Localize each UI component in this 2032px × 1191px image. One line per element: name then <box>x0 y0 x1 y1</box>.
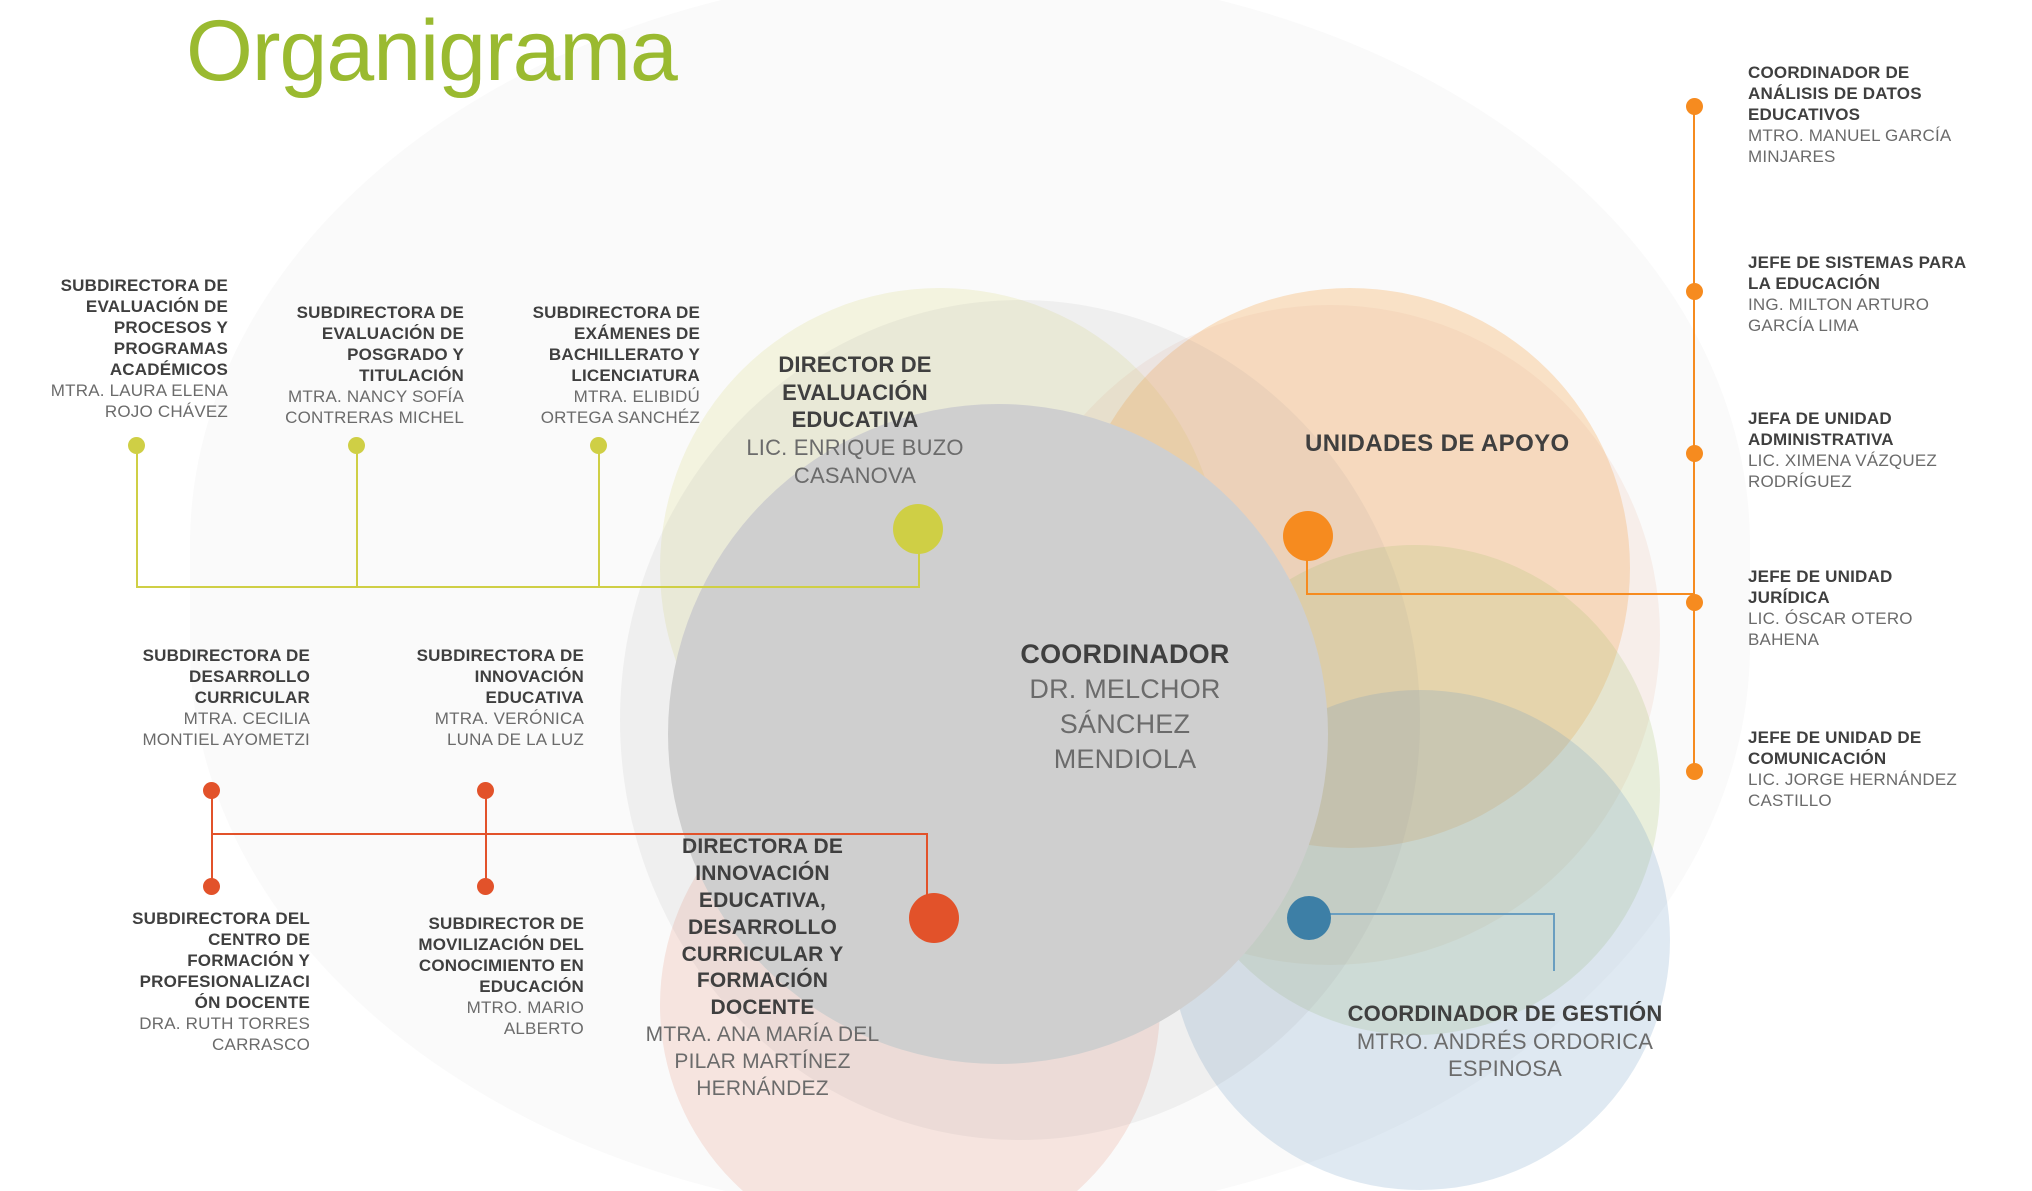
node-unidad-apoyo-1: COORDINADOR DE ANÁLISIS DE DATOS EDUCATI… <box>1748 62 2018 167</box>
node-unidad-apoyo-4: JEFE DE UNIDAD JURÍDICA LIC. ÓSCAR OTERO… <box>1748 566 2018 650</box>
sub-eval-3-name-2: ORTEGA SANCHÉZ <box>468 407 700 428</box>
center-name-3: MENDIOLA <box>935 742 1315 777</box>
orange-dot-5 <box>1686 763 1703 780</box>
directora-innovacion-name-2: PILAR MARTÍNEZ <box>610 1049 915 1076</box>
sub-eval-1-role-4: PROGRAMAS <box>0 338 228 359</box>
sub-innov-top-2-name-1: MTRA. VERÓNICA <box>352 708 584 729</box>
center-name-1: DR. MELCHOR <box>935 672 1315 707</box>
center-name-2: SÁNCHEZ <box>935 707 1315 742</box>
apoyo-3-role-1: JEFA DE UNIDAD <box>1748 408 2018 429</box>
node-director-evaluacion: DIRECTOR DE EVALUACIÓN EDUCATIVA LIC. EN… <box>700 351 1010 490</box>
orange-dot-1 <box>1686 98 1703 115</box>
directora-innovacion-role-1: DIRECTORA DE <box>610 834 915 861</box>
center-node-coordinador: COORDINADOR DR. MELCHOR SÁNCHEZ MENDIOLA <box>935 637 1315 777</box>
sub-eval-3-name-1: MTRA. ELIBIDÚ <box>468 386 700 407</box>
sub-eval-3-role-4: LICENCIATURA <box>468 365 700 386</box>
apoyo-1-name-1: MTRO. MANUEL GARCÍA <box>1748 125 2018 146</box>
apoyo-2-role-2: LA EDUCACIÓN <box>1748 273 2018 294</box>
sub-innov-top-1-role-3: CURRICULAR <box>78 687 310 708</box>
node-subdireccion-evaluacion-1: SUBDIRECTORA DE EVALUACIÓN DE PROCESOS Y… <box>0 275 228 423</box>
red-hub-dot <box>909 893 959 943</box>
apoyo-1-role-1: COORDINADOR DE <box>1748 62 2018 83</box>
sub-innov-bot-1-role-3: FORMACIÓN Y <box>78 950 310 971</box>
coordinador-gestion-name-1: MTRO. ANDRÉS ORDORICA <box>1275 1028 1735 1056</box>
olive-hub-dot <box>893 504 943 554</box>
sub-innov-top-1-role-1: SUBDIRECTORA DE <box>78 645 310 666</box>
red-dot-bottom-2 <box>477 878 494 895</box>
sub-eval-3-role-2: EXÁMENES DE <box>468 323 700 344</box>
node-unidad-apoyo-5: JEFE DE UNIDAD DE COMUNICACIÓN LIC. JORG… <box>1748 727 2018 811</box>
director-evaluacion-name-1: LIC. ENRIQUE BUZO <box>700 434 1010 462</box>
orange-hub-dot <box>1283 511 1333 561</box>
node-subdireccion-innovacion-top-2: SUBDIRECTORA DE INNOVACIÓN EDUCATIVA MTR… <box>352 645 584 750</box>
sub-innov-top-1-role-2: DESARROLLO <box>78 666 310 687</box>
apoyo-5-role-1: JEFE DE UNIDAD DE <box>1748 727 2018 748</box>
node-subdireccion-innovacion-top-1: SUBDIRECTORA DE DESARROLLO CURRICULAR MT… <box>78 645 310 750</box>
page-title: Organigrama <box>186 6 677 96</box>
sub-eval-3-role-3: BACHILLERATO Y <box>468 344 700 365</box>
sub-innov-top-2-role-3: EDUCATIVA <box>352 687 584 708</box>
apoyo-3-name-1: LIC. XIMENA VÁZQUEZ <box>1748 450 2018 471</box>
sub-innov-bot-2-name-1: MTRO. MARIO <box>352 997 584 1018</box>
coordinador-gestion-role: COORDINADOR DE GESTIÓN <box>1275 1000 1735 1028</box>
sub-eval-1-role-2: EVALUACIÓN DE <box>0 296 228 317</box>
red-dot-bottom-1 <box>203 878 220 895</box>
apoyo-4-name-1: LIC. ÓSCAR OTERO <box>1748 608 2018 629</box>
orange-dot-2 <box>1686 283 1703 300</box>
node-subdireccion-innovacion-bottom-2: SUBDIRECTOR DE MOVILIZACIÓN DEL CONOCIMI… <box>352 913 584 1039</box>
sub-eval-1-name-2: ROJO CHÁVEZ <box>0 401 228 422</box>
directora-innovacion-name-3: HERNÁNDEZ <box>610 1076 915 1103</box>
apoyo-3-role-2: ADMINISTRATIVA <box>1748 429 2018 450</box>
sub-innov-bot-1-role-4: PROFESIONALIZACI <box>78 971 310 992</box>
apoyo-4-role-1: JEFE DE UNIDAD <box>1748 566 2018 587</box>
olive-dot-2 <box>348 437 365 454</box>
section-label-unidades-apoyo: UNIDADES DE APOYO <box>1305 430 1570 458</box>
sub-innov-bot-2-role-2: MOVILIZACIÓN DEL <box>352 934 584 955</box>
apoyo-1-role-3: EDUCATIVOS <box>1748 104 2018 125</box>
sub-innov-bot-1-name-2: CARRASCO <box>78 1034 310 1055</box>
sub-eval-2-role-3: POSGRADO Y <box>232 344 464 365</box>
apoyo-2-role-1: JEFE DE SISTEMAS PARA <box>1748 252 2018 273</box>
directora-innovacion-name-1: MTRA. ANA MARÍA DEL <box>610 1022 915 1049</box>
sub-eval-3-role-1: SUBDIRECTORA DE <box>468 302 700 323</box>
apoyo-1-role-2: ANÁLISIS DE DATOS <box>1748 83 2018 104</box>
director-evaluacion-role-3: EDUCATIVA <box>700 406 1010 434</box>
orange-connector-bus <box>1306 593 1694 595</box>
sub-innov-bot-1-role-5: ÓN DOCENTE <box>78 992 310 1013</box>
sub-innov-bot-1-role-2: CENTRO DE <box>78 929 310 950</box>
apoyo-1-name-2: MINJARES <box>1748 146 2018 167</box>
olive-dot-3 <box>590 437 607 454</box>
sub-eval-1-name-1: MTRA. LAURA ELENA <box>0 380 228 401</box>
sub-eval-1-role-3: PROCESOS Y <box>0 317 228 338</box>
node-subdireccion-evaluacion-3: SUBDIRECTORA DE EXÁMENES DE BACHILLERATO… <box>468 302 700 428</box>
sub-innov-bot-2-name-2: ALBERTO <box>352 1018 584 1039</box>
apoyo-2-name-2: GARCÍA LIMA <box>1748 315 2018 336</box>
blue-connector-v <box>1553 913 1555 971</box>
sub-eval-2-role-4: TITULACIÓN <box>232 365 464 386</box>
apoyo-2-name-1: ING. MILTON ARTURO <box>1748 294 2018 315</box>
sub-innov-bot-1-name-1: DRA. RUTH TORRES <box>78 1013 310 1034</box>
red-dot-top-2 <box>477 782 494 799</box>
sub-innov-bot-1-role-1: SUBDIRECTORA DEL <box>78 908 310 929</box>
node-unidad-apoyo-3: JEFA DE UNIDAD ADMINISTRATIVA LIC. XIMEN… <box>1748 408 2018 492</box>
apoyo-5-name-1: LIC. JORGE HERNÁNDEZ <box>1748 769 2018 790</box>
olive-dot-1 <box>128 437 145 454</box>
sub-eval-2-name-2: CONTRERAS MICHEL <box>232 407 464 428</box>
sub-innov-top-2-role-2: INNOVACIÓN <box>352 666 584 687</box>
directora-innovacion-role-6: FORMACIÓN <box>610 968 915 995</box>
apoyo-4-name-2: BAHENA <box>1748 629 2018 650</box>
director-evaluacion-name-2: CASANOVA <box>700 462 1010 490</box>
sub-innov-top-2-name-2: LUNA DE LA LUZ <box>352 729 584 750</box>
olive-connector-v1 <box>136 448 138 587</box>
sub-eval-1-role-1: SUBDIRECTORA DE <box>0 275 228 296</box>
apoyo-4-role-2: JURÍDICA <box>1748 587 2018 608</box>
orange-connector-spine <box>1693 105 1695 772</box>
sub-eval-2-role-1: SUBDIRECTORA DE <box>232 302 464 323</box>
directora-innovacion-role-4: DESARROLLO <box>610 915 915 942</box>
olive-connector-v3 <box>598 448 600 587</box>
center-role: COORDINADOR <box>935 637 1315 672</box>
sub-eval-2-role-2: EVALUACIÓN DE <box>232 323 464 344</box>
coordinador-gestion-name-2: ESPINOSA <box>1275 1055 1735 1083</box>
apoyo-3-name-2: RODRÍGUEZ <box>1748 471 2018 492</box>
olive-connector-v2 <box>356 448 358 587</box>
apoyo-5-name-2: CASTILLO <box>1748 790 2018 811</box>
node-subdireccion-evaluacion-2: SUBDIRECTORA DE EVALUACIÓN DE POSGRADO Y… <box>232 302 464 428</box>
director-evaluacion-role-1: DIRECTOR DE <box>700 351 1010 379</box>
sub-eval-1-role-5: ACADÉMICOS <box>0 359 228 380</box>
node-directora-innovacion: DIRECTORA DE INNOVACIÓN EDUCATIVA, DESAR… <box>610 834 915 1103</box>
sub-innov-bot-2-role-4: EDUCACIÓN <box>352 976 584 997</box>
sub-innov-top-1-name-1: MTRA. CECILIA <box>78 708 310 729</box>
apoyo-5-role-2: COMUNICACIÓN <box>1748 748 2018 769</box>
sub-innov-top-1-name-2: MONTIEL AYOMETZI <box>78 729 310 750</box>
node-unidad-apoyo-2: JEFE DE SISTEMAS PARA LA EDUCACIÓN ING. … <box>1748 252 2018 336</box>
directora-innovacion-role-2: INNOVACIÓN <box>610 861 915 888</box>
node-subdireccion-innovacion-bottom-1: SUBDIRECTORA DEL CENTRO DE FORMACIÓN Y P… <box>78 908 310 1056</box>
orange-dot-4 <box>1686 594 1703 611</box>
directora-innovacion-role-5: CURRICULAR Y <box>610 942 915 969</box>
orange-dot-3 <box>1686 445 1703 462</box>
node-coordinador-gestion: COORDINADOR DE GESTIÓN MTRO. ANDRÉS ORDO… <box>1275 1000 1735 1083</box>
blue-connector-h <box>1325 913 1555 915</box>
organigrama-canvas: Organigrama COORDINADOR DR. MELCHOR SÁNC… <box>0 0 2032 1191</box>
directora-innovacion-role-3: EDUCATIVA, <box>610 888 915 915</box>
sub-innov-top-2-role-1: SUBDIRECTORA DE <box>352 645 584 666</box>
director-evaluacion-role-2: EVALUACIÓN <box>700 379 1010 407</box>
blue-hub-dot <box>1287 896 1331 940</box>
red-dot-top-1 <box>203 782 220 799</box>
sub-eval-2-name-1: MTRA. NANCY SOFÍA <box>232 386 464 407</box>
sub-innov-bot-2-role-1: SUBDIRECTOR DE <box>352 913 584 934</box>
directora-innovacion-role-7: DOCENTE <box>610 995 915 1022</box>
olive-connector-bus <box>136 586 920 588</box>
sub-innov-bot-2-role-3: CONOCIMIENTO EN <box>352 955 584 976</box>
